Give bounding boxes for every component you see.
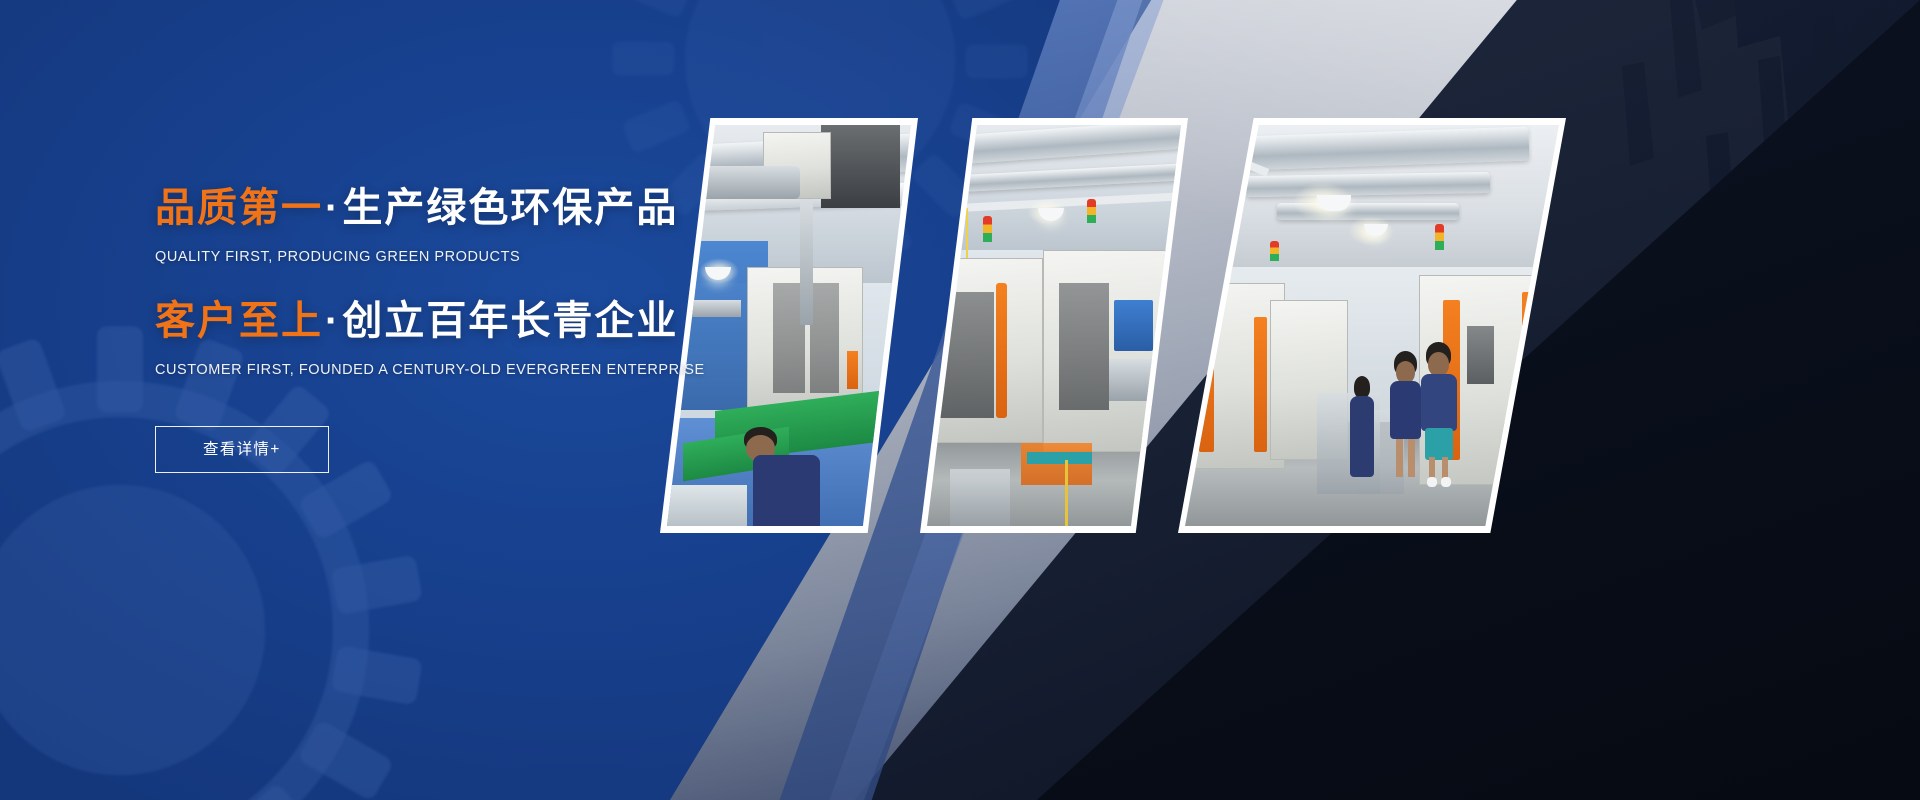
photo-3-scene xyxy=(1185,125,1559,526)
headline-2-rest: 创立百年长青企业 xyxy=(342,299,678,343)
headline-spacer xyxy=(155,265,775,298)
subtitle-1: QUALITY FIRST, PRODUCING GREEN PRODUCTS xyxy=(155,249,775,265)
headline-2-highlight: 客户至上 xyxy=(155,299,323,343)
headline-1: 品质第一·生产绿色环保产品 xyxy=(155,185,775,232)
headline-1-separator: · xyxy=(323,186,342,230)
hero-banner: 品质第一·生产绿色环保产品 QUALITY FIRST, PRODUCING G… xyxy=(0,0,1920,800)
photo-2-scene xyxy=(927,125,1181,526)
headline-1-highlight: 品质第一 xyxy=(155,186,323,230)
cta-wrapper: 查看详情+ xyxy=(155,378,775,473)
headline-1-rest: 生产绿色环保产品 xyxy=(342,186,678,230)
headline-2: 客户至上·创立百年长青企业 xyxy=(155,298,775,345)
subtitle-2: CUSTOMER FIRST, FOUNDED A CENTURY-OLD EV… xyxy=(155,362,775,378)
hero-copy: 品质第一·生产绿色环保产品 QUALITY FIRST, PRODUCING G… xyxy=(155,185,775,473)
headline-2-separator: · xyxy=(323,299,342,343)
photo-card-2[interactable] xyxy=(920,118,1188,533)
view-details-button[interactable]: 查看详情+ xyxy=(155,426,329,473)
photo-card-3[interactable] xyxy=(1178,118,1566,533)
